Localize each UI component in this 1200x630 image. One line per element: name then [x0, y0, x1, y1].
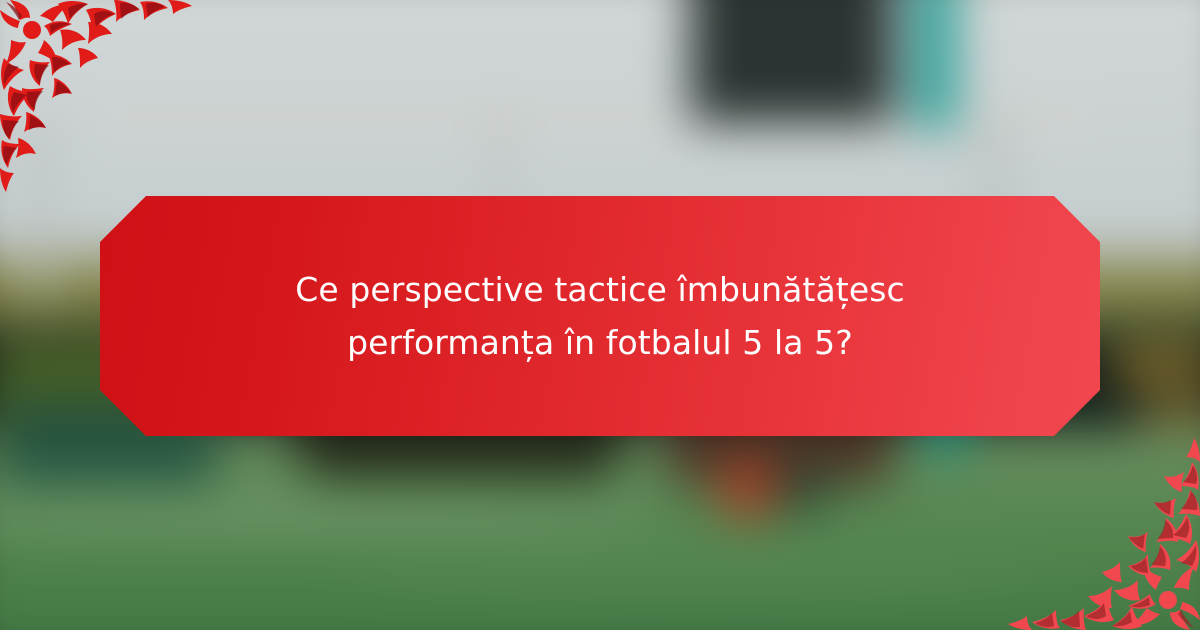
teal-post-blob [914, 0, 955, 130]
orange-strip-blob [1112, 351, 1200, 379]
orange-strip-lower-blob [1138, 400, 1200, 425]
social-share-card: Ce perspective tactice îmbunătățesc perf… [0, 0, 1200, 630]
ball-blob [715, 457, 782, 521]
dark-structure-blob [690, 0, 895, 123]
ball-shadow-blob [773, 464, 831, 514]
page-title: Ce perspective tactice îmbunătățesc perf… [280, 263, 920, 370]
pillar-left-blob [30, 116, 50, 301]
grass-streak-lower-blob [344, 556, 1048, 592]
headline-banner: Ce perspective tactice îmbunătățesc perf… [100, 196, 1100, 436]
